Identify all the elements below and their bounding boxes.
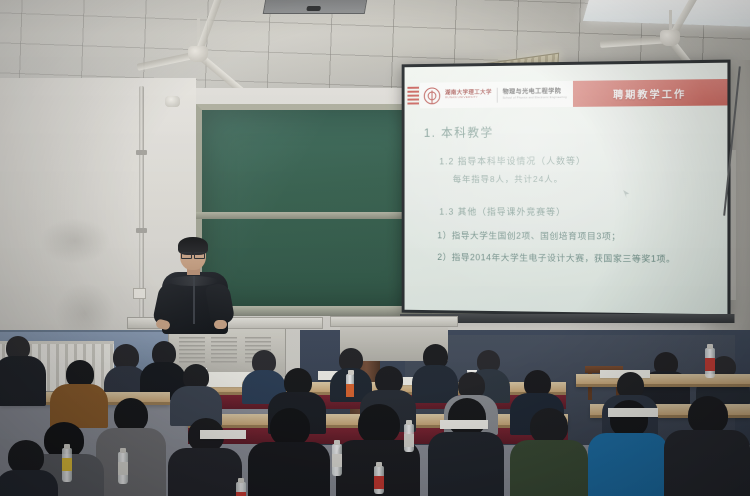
lecture-hall-photo: 湖南大学理工大学 HUNAN UNIVERSITY 物理与光电工程学院 Scho… [0,0,750,496]
paper-sheet [200,430,246,439]
department-name-en: School of Physics and Electronic Enginee… [503,96,567,100]
logo-stripes-icon [405,83,420,109]
water-bottle [236,482,246,496]
paper-sheet [440,420,488,429]
audience-member [170,364,222,422]
slide-body: 1. 本科教学 1.2 指导本科毕设情况（人数等） 每年指导8人，共计24人。 … [405,114,728,266]
eyeglasses-icon [181,252,205,257]
slide-line-4: 1）指导大学生国创2项、国创培育项目3项； [437,228,713,243]
audience-member [510,408,588,496]
university-seal-icon [424,87,440,104]
slide-header: 湖南大学理工大学 HUNAN UNIVERSITY 物理与光电工程学院 Scho… [405,79,728,109]
projector-mount [263,0,370,14]
slide-banner-title: 聘期教学工作 [613,85,686,101]
chalkboard-rail [196,212,428,219]
smoke-detector-icon [165,96,180,107]
projection-screen: 湖南大学理工大学 HUNAN UNIVERSITY 物理与光电工程学院 Scho… [402,60,731,318]
university-name-en: HUNAN UNIVERSITY [445,96,492,100]
university-logo: 湖南大学理工大学 HUNAN UNIVERSITY 物理与光电工程学院 Scho… [420,81,573,108]
audience-member [96,398,166,496]
audience-member [0,440,58,496]
slide-line-3: 1.3 其他（指导课外竞赛等） [439,205,713,219]
water-bottle [118,452,128,484]
slide-line-2: 每年指导8人，共计24人。 [453,173,713,185]
audience-member [428,398,504,496]
audience-member [664,396,750,496]
side-table [330,316,458,327]
water-bottle [346,374,354,396]
slide-line-1: 1.2 指导本科毕设情况（人数等） [439,153,713,167]
slide-title-banner: 聘期教学工作 [573,79,727,107]
water-bottle [705,348,715,378]
presenter [160,240,232,332]
presenter-hand [214,320,227,329]
logo-divider [497,87,498,102]
water-bottle [374,466,384,494]
audience-member [248,408,330,496]
water-bottle [62,448,72,482]
slide-heading: 1. 本科教学 [424,122,713,141]
water-bottle [404,424,414,452]
wall-outlet [133,288,146,299]
slide-line-5: 2）指导2014年大学生电子设计大赛，获国家三等奖1项。 [437,250,713,265]
slide-surface: 湖南大学理工大学 HUNAN UNIVERSITY 物理与光电工程学院 Scho… [405,63,728,315]
wall-pipe [139,86,144,322]
audience-member [0,336,46,402]
water-bottle [332,444,342,476]
paper-sheet [608,408,658,417]
